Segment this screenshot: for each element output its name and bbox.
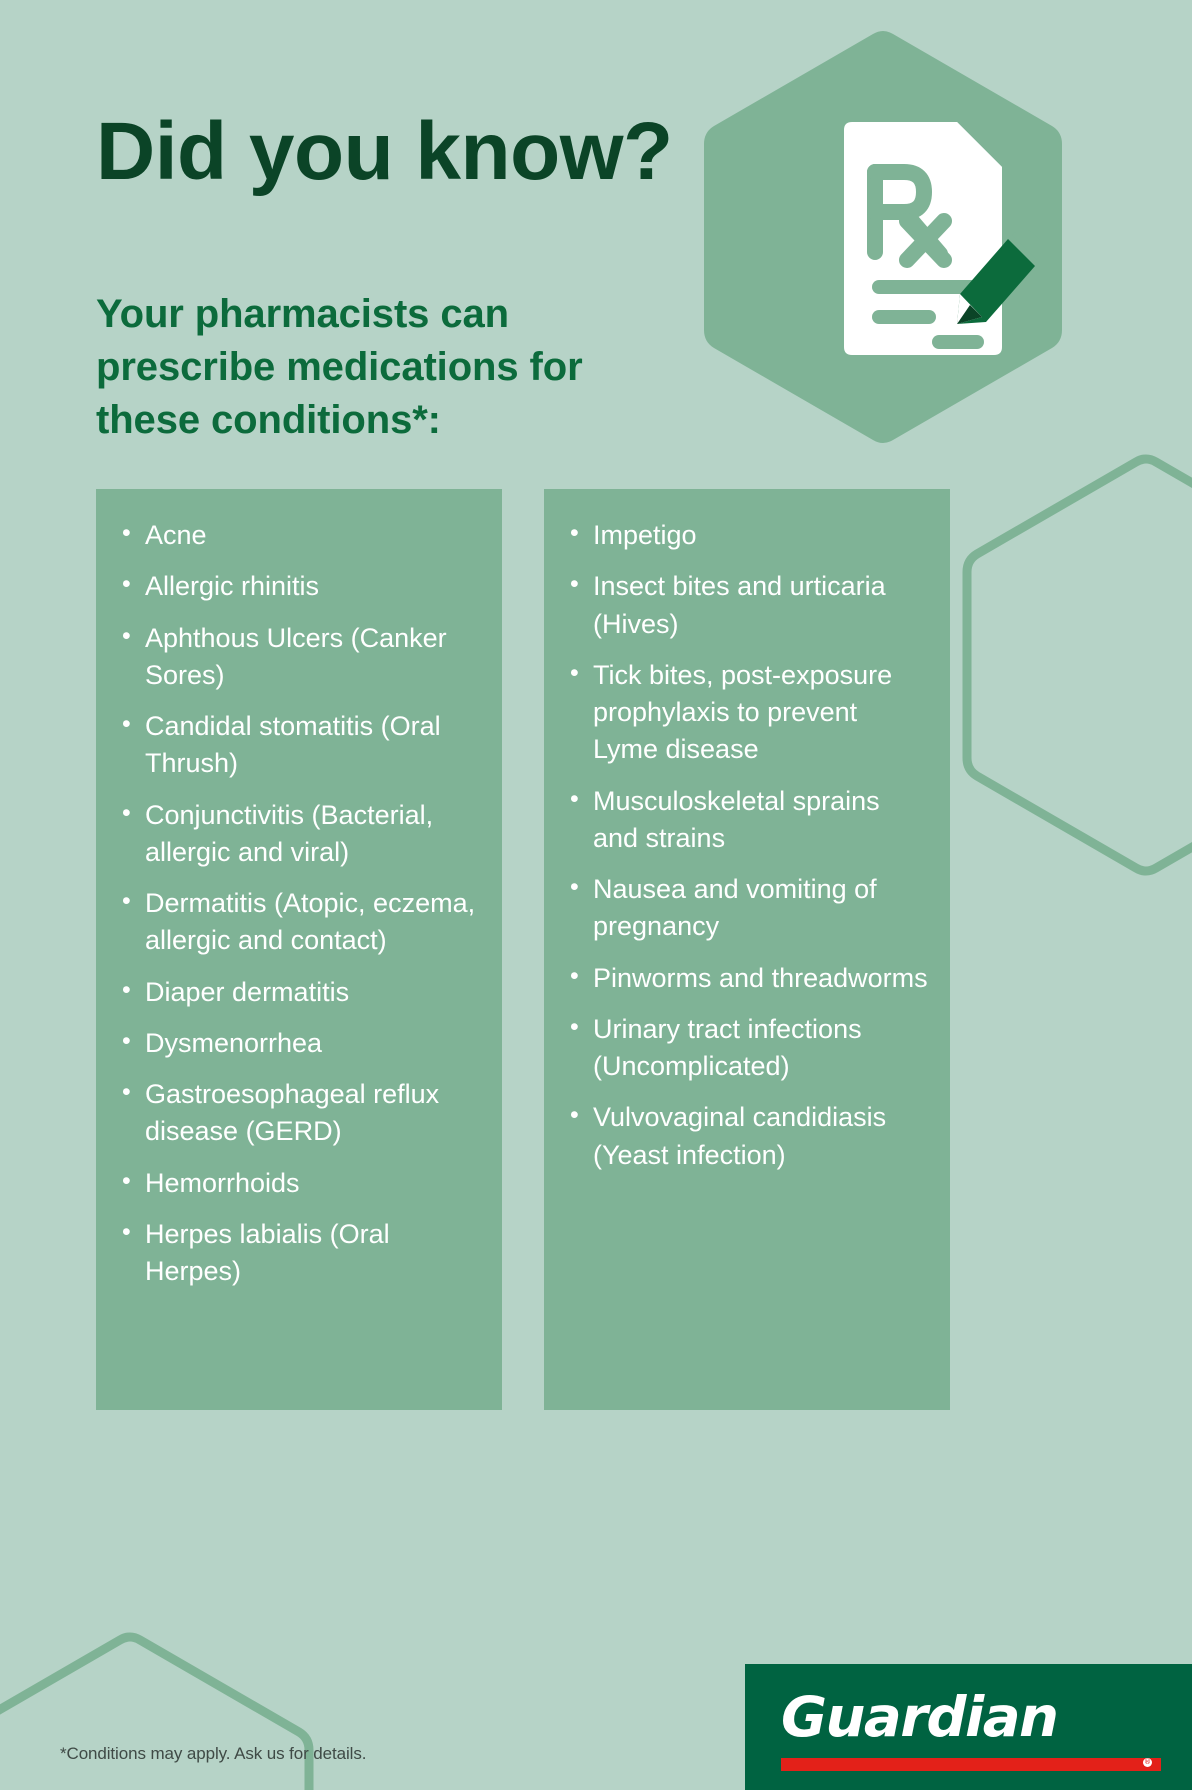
list-item: Musculoskeletal sprains and strains [566,783,928,858]
list-item: Acne [118,517,480,554]
guardian-logo-rule: ® [781,1758,1161,1771]
conditions-list-right: Impetigo Insect bites and urticaria (Hiv… [544,489,950,1174]
list-item: Allergic rhinitis [118,568,480,605]
conditions-panel-left: Acne Allergic rhinitis Aphthous Ulcers (… [96,489,502,1410]
list-item: Nausea and vomiting of pregnancy [566,871,928,946]
document-signature-line [932,335,984,349]
list-item: Gastroesophageal reflux disease (GERD) [118,1076,480,1151]
document-line-2 [872,310,936,324]
hexagon-outline-bottom-left [0,1637,309,1790]
guardian-wordmark: Guardian [781,1690,1057,1745]
footnote-text: *Conditions may apply. Ask us for detail… [60,1744,366,1764]
page-subtitle: Your pharmacists can prescribe medicatio… [96,288,656,448]
list-item: Hemorrhoids [118,1165,480,1202]
guardian-logo: Guardian ® [745,1664,1192,1790]
conditions-list-left: Acne Allergic rhinitis Aphthous Ulcers (… [96,489,502,1290]
list-item: Herpes labialis (Oral Herpes) [118,1216,480,1291]
page-title: Did you know? [96,112,673,192]
list-item: Candidal stomatitis (Oral Thrush) [118,708,480,783]
conditions-panel-right: Impetigo Insect bites and urticaria (Hiv… [544,489,950,1410]
list-item: Aphthous Ulcers (Canker Sores) [118,620,480,695]
poster-root: Did you know? Your pharmacists can presc… [0,0,1192,1790]
list-item: Urinary tract infections (Uncomplicated) [566,1011,928,1086]
prescription-icon [744,22,1040,477]
list-item: Impetigo [566,517,928,554]
registered-trademark-icon: ® [1143,1758,1152,1767]
list-item: Conjunctivitis (Bacterial, allergic and … [118,797,480,872]
hexagon-outline-right-edge [967,459,1192,871]
list-item: Dysmenorrhea [118,1025,480,1062]
list-item: Dermatitis (Atopic, eczema, allergic and… [118,885,480,960]
list-item: Tick bites, post-exposure prophylaxis to… [566,657,928,769]
list-item: Pinworms and threadworms [566,960,928,997]
list-item: Insect bites and urticaria (Hives) [566,568,928,643]
list-item: Diaper dermatitis [118,974,480,1011]
list-item: Vulvovaginal candidiasis (Yeast infectio… [566,1099,928,1174]
document-fold-corner [957,122,1002,167]
